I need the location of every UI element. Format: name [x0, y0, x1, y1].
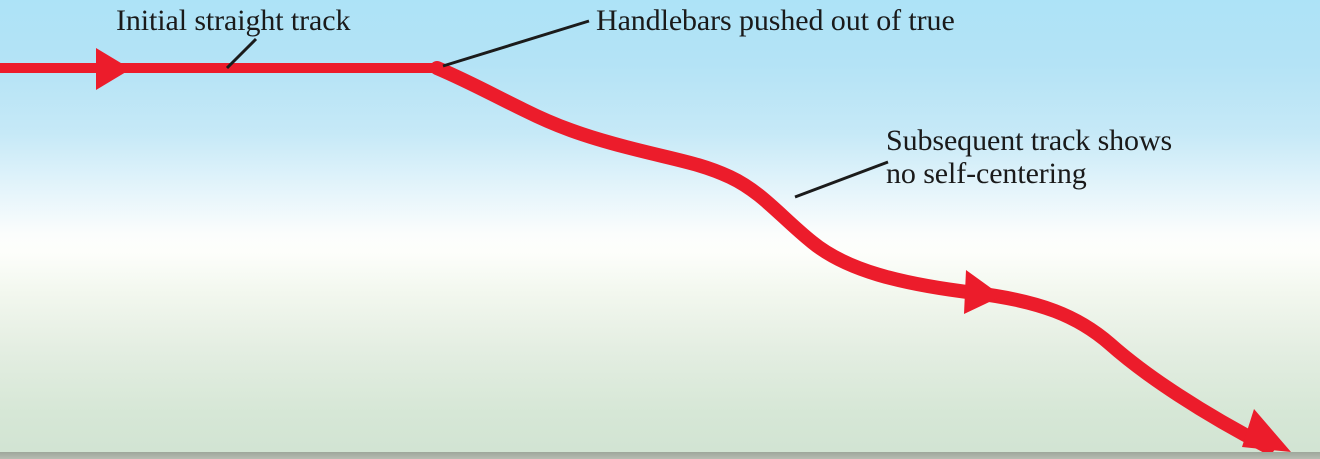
leader-handlebars — [443, 21, 589, 66]
track-diagram-figure: Initial straight track Handlebars pushed… — [0, 0, 1320, 459]
label-handlebars-pushed-out-of-true: Handlebars pushed out of true — [596, 4, 955, 37]
figure-bottom-edge-strip — [0, 452, 1320, 459]
arrowhead-start — [96, 48, 131, 90]
label-subsequent-track-no-self-centering: Subsequent track shows no self-centering — [886, 124, 1172, 190]
label-initial-straight-track: Initial straight track — [116, 4, 350, 37]
leader-subsequent — [795, 162, 888, 197]
arrowhead-end — [1242, 409, 1291, 452]
track-and-leaders-svg — [0, 0, 1320, 459]
arrowhead-middle — [964, 270, 1002, 314]
